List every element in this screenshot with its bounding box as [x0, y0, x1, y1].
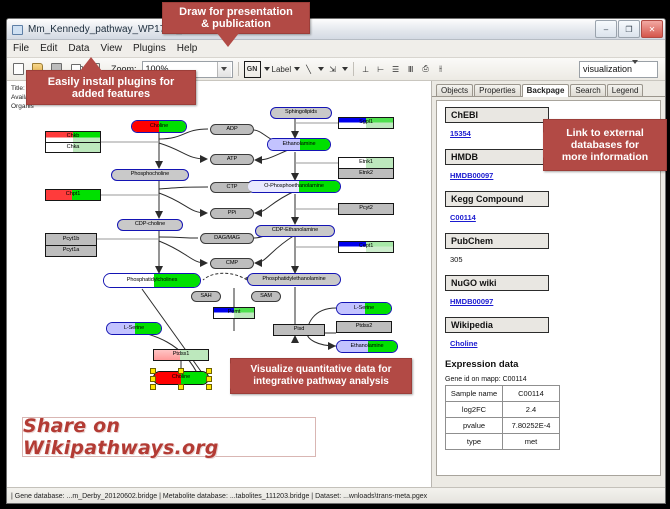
- db-link-nugo[interactable]: HMDB00097: [450, 297, 493, 306]
- node-chpt1[interactable]: Chpt1: [45, 189, 101, 201]
- line-tool-icon[interactable]: ╲: [302, 62, 315, 77]
- node-l-serine-right[interactable]: L-Serine: [336, 302, 392, 315]
- node-pemt[interactable]: Pemt: [213, 307, 255, 319]
- menu-edit[interactable]: Edit: [40, 43, 57, 54]
- menu-view[interactable]: View: [100, 43, 122, 54]
- node-l-serine-left[interactable]: L-Serine: [106, 322, 162, 335]
- node-cept1[interactable]: Cept1: [338, 241, 394, 253]
- db-title: NuGO wiki: [445, 275, 549, 291]
- selection-handle[interactable]: [150, 376, 156, 382]
- node-ethanolamine-2[interactable]: Ethanolamine: [336, 340, 398, 353]
- callout-links-text: Link to external databases for more info…: [562, 127, 648, 163]
- maximize-button[interactable]: ❐: [618, 20, 640, 38]
- db-title: PubChem: [445, 233, 549, 249]
- distribute-icon[interactable]: Ⅲ: [404, 62, 417, 77]
- db-link-hmdb[interactable]: HMDB00097: [450, 171, 493, 180]
- db-section-pubchem: PubChem 305: [445, 233, 660, 267]
- node-phosphocholine[interactable]: Phosphocholine: [111, 169, 189, 181]
- callout-plugins: Easily install plugins for added feature…: [26, 70, 196, 105]
- callout-links-arrow-icon: [543, 132, 559, 158]
- callout-draw: Draw for presentation & publication: [162, 2, 310, 34]
- tab-backpage[interactable]: Backpage: [522, 84, 570, 97]
- callout-links: Link to external databases for more info…: [543, 119, 667, 171]
- chevron-down-icon[interactable]: [217, 62, 231, 77]
- node-pisd[interactable]: Pisd: [273, 324, 325, 336]
- title-bar: Mm_Kennedy_pathway_WP1771_45176.gpml – ❐…: [7, 19, 665, 40]
- table-row: Sample name C00114: [446, 386, 560, 402]
- node-sphingolipids[interactable]: Sphingolipids: [270, 107, 332, 119]
- node-cmp[interactable]: CMP: [210, 258, 254, 269]
- node-etnk2[interactable]: Etnk2: [338, 168, 394, 179]
- db-title: Kegg Compound: [445, 191, 549, 207]
- db-section-nugo: NuGO wiki HMDB00097: [445, 275, 660, 309]
- node-atp[interactable]: ATP: [210, 154, 254, 165]
- node-phosphatidylethanolamine[interactable]: Phosphatidylethanolamine: [247, 273, 341, 286]
- status-bar: | Gene database: ...m_Derby_20120602.bri…: [7, 487, 665, 504]
- new-icon[interactable]: [10, 61, 27, 78]
- align-top-icon[interactable]: ⊥: [359, 62, 372, 77]
- callout-visualize: Visualize quantitative data for integrat…: [230, 358, 412, 394]
- visualization-value: visualization: [583, 64, 632, 74]
- selection-handle[interactable]: [206, 376, 212, 382]
- app-icon: [11, 23, 23, 35]
- db-link-kegg[interactable]: C00114: [450, 213, 476, 222]
- expr-key: pvalue: [446, 418, 503, 434]
- db-link-wikipedia[interactable]: Choline: [450, 339, 478, 348]
- chevron-down-icon[interactable]: [318, 67, 324, 71]
- node-pcyt1b[interactable]: Pcyt1b: [45, 233, 97, 245]
- callout-draw-arrow-icon: [217, 33, 239, 47]
- expr-val: 7.80252E-4: [503, 418, 560, 434]
- expr-val: met: [503, 434, 560, 450]
- node-ppi[interactable]: PPi: [210, 208, 254, 219]
- node-chkb[interactable]: Chkb: [45, 131, 101, 142]
- callout-visualize-text: Visualize quantitative data for integrat…: [251, 364, 392, 388]
- expr-key: Sample name: [446, 386, 503, 402]
- db-section-kegg: Kegg Compound C00114: [445, 191, 660, 225]
- expr-val: C00114: [503, 386, 560, 402]
- chevron-down-icon[interactable]: [294, 67, 300, 71]
- node-cdp-choline[interactable]: CDP-choline: [117, 219, 183, 231]
- node-ethanolamine[interactable]: Ethanolamine: [267, 138, 331, 151]
- node-pcyt1a[interactable]: Pcyt1a: [45, 245, 97, 257]
- node-etnk1[interactable]: Etnk1: [338, 157, 394, 168]
- minimize-button[interactable]: –: [595, 20, 617, 38]
- node-sam[interactable]: SAM: [251, 291, 281, 302]
- selection-handle[interactable]: [178, 368, 184, 374]
- callout-draw-text: Draw for presentation & publication: [179, 6, 293, 30]
- datanode-icon[interactable]: GN: [244, 61, 261, 78]
- table-row: type met: [446, 434, 560, 450]
- db-title: Wikipedia: [445, 317, 549, 333]
- menu-bar: File Edit Data View Plugins Help: [7, 40, 665, 58]
- chevron-down-icon[interactable]: [632, 64, 638, 74]
- close-button[interactable]: ✕: [641, 20, 663, 38]
- db-title: HMDB: [445, 149, 549, 165]
- tab-objects[interactable]: Objects: [436, 84, 473, 96]
- menu-file[interactable]: File: [13, 43, 29, 54]
- db-value-pubchem: 305: [450, 255, 463, 264]
- node-pcyt2[interactable]: Pcyt2: [338, 203, 394, 215]
- gene-id-line: Gene id on mapp: C00114: [445, 376, 660, 383]
- expression-data-heading: Expression data: [445, 359, 660, 370]
- selection-handle[interactable]: [206, 368, 212, 374]
- selection-handle[interactable]: [178, 384, 184, 390]
- tab-legend[interactable]: Legend: [607, 84, 644, 96]
- toolbar-separator: [353, 62, 354, 76]
- db-link-chebi[interactable]: 15354: [450, 129, 471, 138]
- align-left-icon[interactable]: ⊢: [374, 62, 387, 77]
- toolbar-separator: [238, 62, 239, 76]
- node-ptdss2[interactable]: Ptdss2: [336, 321, 392, 333]
- align-vertical-icon[interactable]: ☰: [389, 62, 402, 77]
- menu-data[interactable]: Data: [68, 43, 89, 54]
- selection-handle[interactable]: [206, 384, 212, 390]
- side-panel-tabs: Objects Properties Backpage Search Legen…: [432, 81, 665, 97]
- node-dag-mag[interactable]: DAG/MAG: [200, 233, 254, 244]
- expr-val: 2.4: [503, 402, 560, 418]
- callout-share: Share on Wikipathways.org: [22, 417, 316, 457]
- table-row: log2FC 2.4: [446, 402, 560, 418]
- node-adp[interactable]: ADP: [210, 124, 254, 135]
- visualization-combobox[interactable]: visualization: [579, 61, 658, 78]
- node-phosphatidylcholines[interactable]: Phosphatidylcholines: [103, 273, 201, 288]
- connector-tool-icon[interactable]: ⇲: [326, 62, 339, 77]
- callout-plugins-text: Easily install plugins for added feature…: [48, 76, 175, 100]
- node-sgpl1[interactable]: Sgpl1: [338, 117, 394, 129]
- node-sah[interactable]: SAH: [191, 291, 221, 302]
- chevron-down-icon[interactable]: [264, 67, 270, 71]
- selection-handle[interactable]: [150, 368, 156, 374]
- node-o-phosphoethanolamine[interactable]: O-Phosphoethanolamine: [247, 180, 341, 193]
- db-title: ChEBI: [445, 107, 549, 123]
- expression-table: Sample name C00114 log2FC 2.4 pvalue 7.8…: [445, 385, 560, 450]
- menu-plugins[interactable]: Plugins: [133, 43, 166, 54]
- expr-key: type: [446, 434, 503, 450]
- db-section-wikipedia: Wikipedia Choline: [445, 317, 660, 351]
- callout-plugins-arrow-icon: [80, 57, 102, 71]
- table-row: pvalue 7.80252E-4: [446, 418, 560, 434]
- menu-help[interactable]: Help: [177, 43, 198, 54]
- window-controls: – ❐ ✕: [595, 20, 663, 38]
- print-icon[interactable]: ⎙: [419, 62, 432, 77]
- label-tool[interactable]: Label: [272, 62, 292, 77]
- expr-key: log2FC: [446, 402, 503, 418]
- selection-handle[interactable]: [150, 384, 156, 390]
- node-ptdss1[interactable]: Ptdss1: [153, 349, 209, 361]
- chevron-down-icon[interactable]: [342, 67, 348, 71]
- callout-share-text: Share on Wikipathways.org: [23, 415, 315, 459]
- node-choline[interactable]: Choline: [131, 120, 187, 133]
- node-chka[interactable]: Chka: [45, 142, 101, 153]
- order-icon[interactable]: ⫲: [434, 62, 447, 77]
- callout-visualize-arrow-icon: [230, 363, 246, 389]
- tab-properties[interactable]: Properties: [474, 84, 520, 96]
- node-cdp-ethanolamine[interactable]: CDP-Ethanolamine: [255, 225, 335, 237]
- tab-search[interactable]: Search: [570, 84, 605, 96]
